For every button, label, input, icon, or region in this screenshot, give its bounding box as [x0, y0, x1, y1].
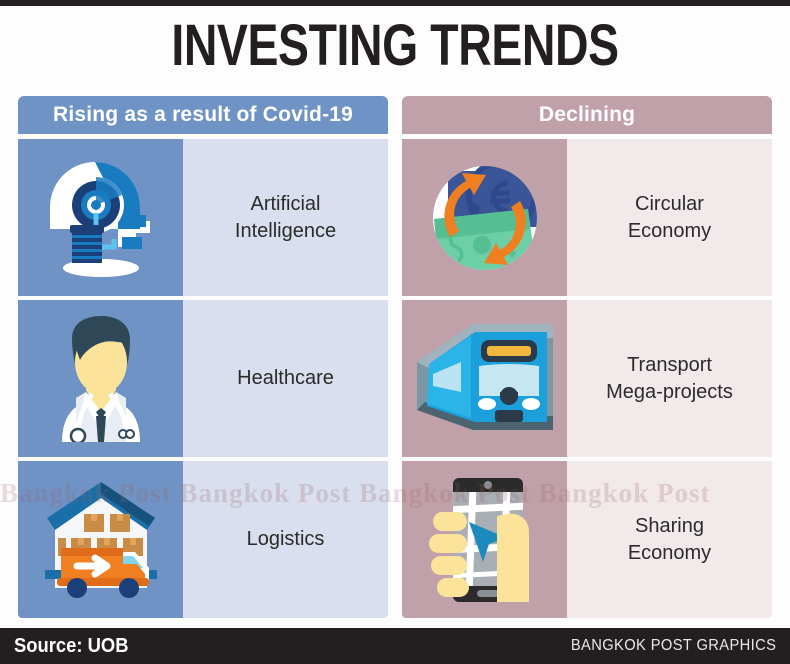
icon-cell-artificial-intelligence	[18, 139, 183, 296]
column-header-rising: Rising as a result of Covid-19	[18, 96, 388, 134]
column-declining: Declining	[402, 96, 772, 618]
icon-cell-healthcare	[18, 300, 183, 457]
footer-bar: Source: UOB BANGKOK POST GRAPHICS	[0, 628, 790, 664]
label-cell-logistics: Logistics	[183, 461, 388, 618]
label-line-2: Economy	[628, 220, 711, 242]
warehouse-truck-icon	[37, 478, 165, 602]
label-cell-healthcare: Healthcare	[183, 300, 388, 457]
label-line-1: Healthcare	[237, 365, 334, 392]
table-row[interactable]: Sharing Economy	[402, 461, 772, 618]
label-line-1: Sharing	[635, 515, 704, 537]
label-line-1: Transport	[627, 354, 712, 376]
label-cell-circular-economy: Circular Economy	[567, 139, 772, 296]
table-row[interactable]: Circular Economy	[402, 139, 772, 296]
table-row[interactable]: Transport Mega-projects	[402, 300, 772, 457]
table-row[interactable]: Artificial Intelligence	[18, 139, 388, 296]
icon-cell-logistics	[18, 461, 183, 618]
label-cell-sharing-economy: Sharing Economy	[567, 461, 772, 618]
label-line-1: Circular	[635, 193, 704, 215]
label-cell-artificial-intelligence: Artificial Intelligence	[183, 139, 388, 296]
column-body-declining: Circular Economy	[402, 139, 772, 618]
footer-source: Source: UOB	[14, 635, 129, 658]
label-line-2: Mega-projects	[606, 381, 733, 403]
phone-map-hand-icon	[425, 476, 545, 604]
icon-cell-circular-economy	[402, 139, 567, 296]
label-line-2: Intelligence	[235, 220, 336, 242]
train-icon	[415, 318, 555, 440]
column-body-rising: Artificial Intelligence	[18, 139, 388, 618]
top-edge-bar	[0, 0, 790, 6]
icon-cell-transport	[402, 300, 567, 457]
trends-table: Rising as a result of Covid-19	[18, 96, 772, 618]
page-title: INVESTING TRENDS	[79, 10, 711, 82]
table-row[interactable]: Logistics	[18, 461, 388, 618]
column-header-declining: Declining	[402, 96, 772, 134]
doctor-icon	[42, 316, 160, 442]
label-cell-transport: Transport Mega-projects	[567, 300, 772, 457]
footer-credit: BANGKOK POST GRAPHICS	[571, 637, 776, 655]
label-line-1: Logistics	[247, 526, 325, 553]
robot-head-icon	[42, 155, 160, 281]
table-row[interactable]: Healthcare	[18, 300, 388, 457]
infographic-page: INVESTING TRENDS Rising as a result of C…	[0, 0, 790, 664]
icon-cell-sharing-economy	[402, 461, 567, 618]
label-line-2: Economy	[628, 542, 711, 564]
recycling-money-icon	[424, 157, 546, 279]
label-line-1: Artificial	[250, 193, 320, 215]
column-rising: Rising as a result of Covid-19	[18, 96, 388, 618]
